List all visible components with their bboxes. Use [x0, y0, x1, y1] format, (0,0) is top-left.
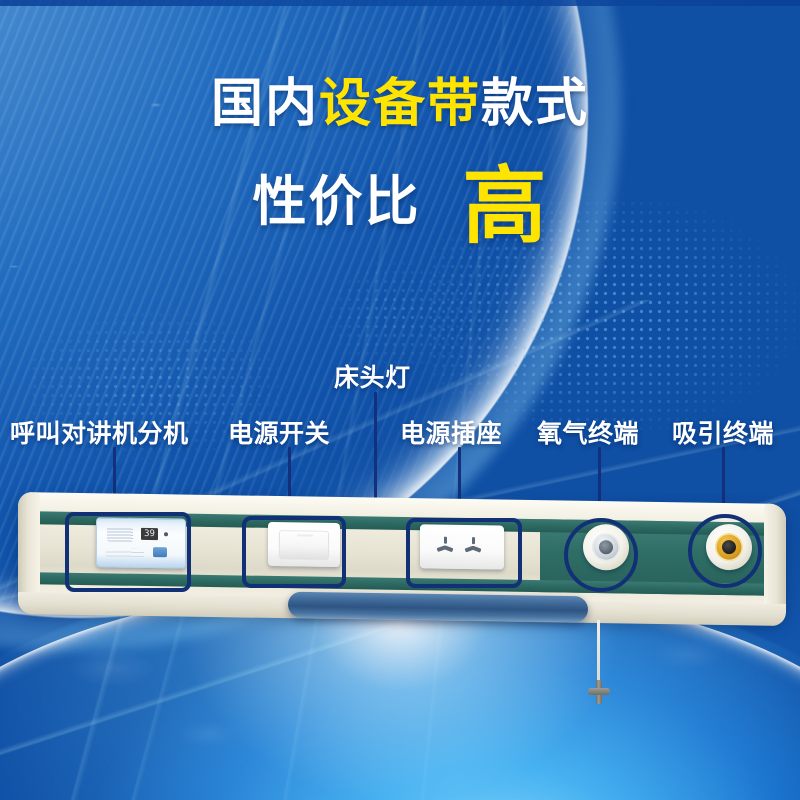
- highlight-ring-intercom: [65, 512, 191, 592]
- subheadline-emphasis: 高: [462, 164, 547, 248]
- callout-label-socket: 电源插座: [400, 414, 502, 450]
- highlight-ring-socket: [406, 518, 522, 588]
- callout-label-switch: 电源开关: [228, 414, 330, 450]
- headline-part3: 款式: [481, 75, 589, 133]
- callout-label-suction: 吸引终端: [672, 414, 774, 450]
- top-edge-strip: [0, 0, 800, 6]
- callout-label-oxygen: 氧气终端: [537, 414, 639, 450]
- bed-light-tube: [288, 592, 588, 623]
- headline: 国内设备带款式: [0, 78, 800, 130]
- promo-image-canvas: 国内设备带款式 性价比 高 呼叫对讲机分机 电源开关 床头灯 电源插座 氧气终端…: [0, 0, 800, 800]
- pull-cord-handle[interactable]: [588, 680, 610, 704]
- headline-part1: 国内: [211, 75, 319, 133]
- callout-label-bedlight: 床头灯: [334, 358, 411, 394]
- headline-highlight: 设备带: [319, 75, 481, 133]
- subheadline-text: 性价比: [252, 175, 420, 229]
- subheadline: 性价比 高: [0, 160, 800, 244]
- highlight-ring-suction: [688, 514, 762, 588]
- callout-label-intercom: 呼叫对讲机分机: [10, 414, 189, 450]
- highlight-ring-oxygen: [564, 518, 638, 592]
- highlight-ring-switch: [242, 516, 346, 588]
